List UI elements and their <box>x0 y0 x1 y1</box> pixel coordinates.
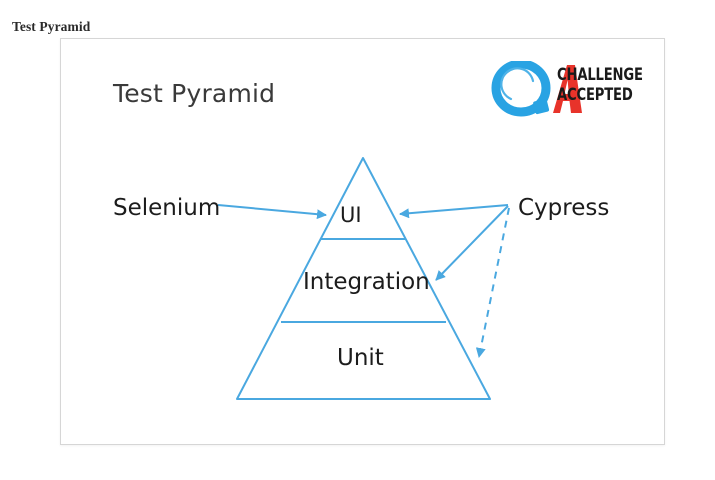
document-caption: Test Pyramid <box>12 19 90 35</box>
annotation-label-selenium: Selenium <box>113 195 220 221</box>
logo-line-accepted: ACCEPTED <box>557 85 643 105</box>
logo-line-challenge: CHALLENGE <box>557 65 643 85</box>
annotation-label-cypress: Cypress <box>518 195 609 221</box>
slide-title: Test Pyramid <box>113 79 275 108</box>
pyramid-tier-label-unit: Unit <box>337 345 384 371</box>
pyramid-tier-label-integration: Integration <box>303 269 430 295</box>
pyramid-tier-label-ui: UI <box>340 203 362 227</box>
page-root: Test Pyramid Test Pyramid CHALLENGE ACCE… <box>0 0 715 480</box>
logo-text: CHALLENGE ACCEPTED <box>557 65 657 105</box>
qa-challenge-accepted-logo: CHALLENGE ACCEPTED <box>489 61 657 119</box>
slide-frame: Test Pyramid CHALLENGE ACCEPTED <box>60 38 665 445</box>
